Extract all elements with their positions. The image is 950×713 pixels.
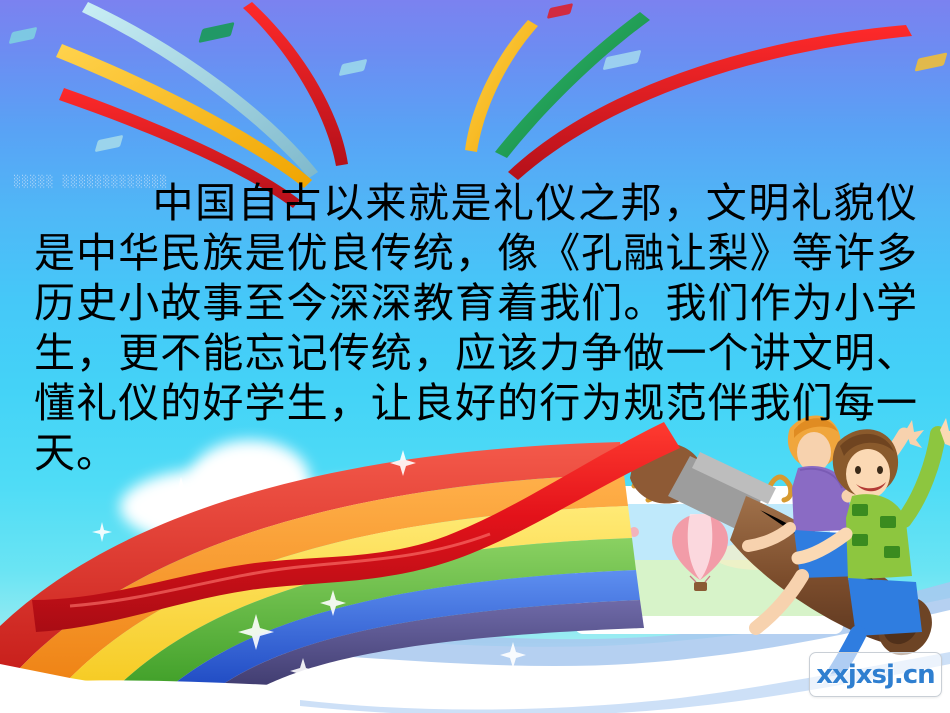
presentation-slide: ░░░░░ ░░░░░░░░░░░░░	[0, 0, 950, 713]
paragraph-text: 中国自古以来就是礼仪之邦，文明礼貌仪是中华民族是优良传统，像《孔融让梨》等许多历…	[34, 179, 918, 477]
site-logo-text: xxjxsj.cn	[816, 660, 934, 690]
slide-body-text: 中国自古以来就是礼仪之邦，文明礼貌仪是中华民族是优良传统，像《孔融让梨》等许多历…	[34, 178, 918, 478]
faint-watermark-text: ░░░░░ ░░░░░░░░░░░░░	[14, 175, 168, 188]
site-watermark-logo[interactable]: xxjxsj.cn	[809, 652, 942, 697]
streamer-red-right	[508, 25, 912, 180]
